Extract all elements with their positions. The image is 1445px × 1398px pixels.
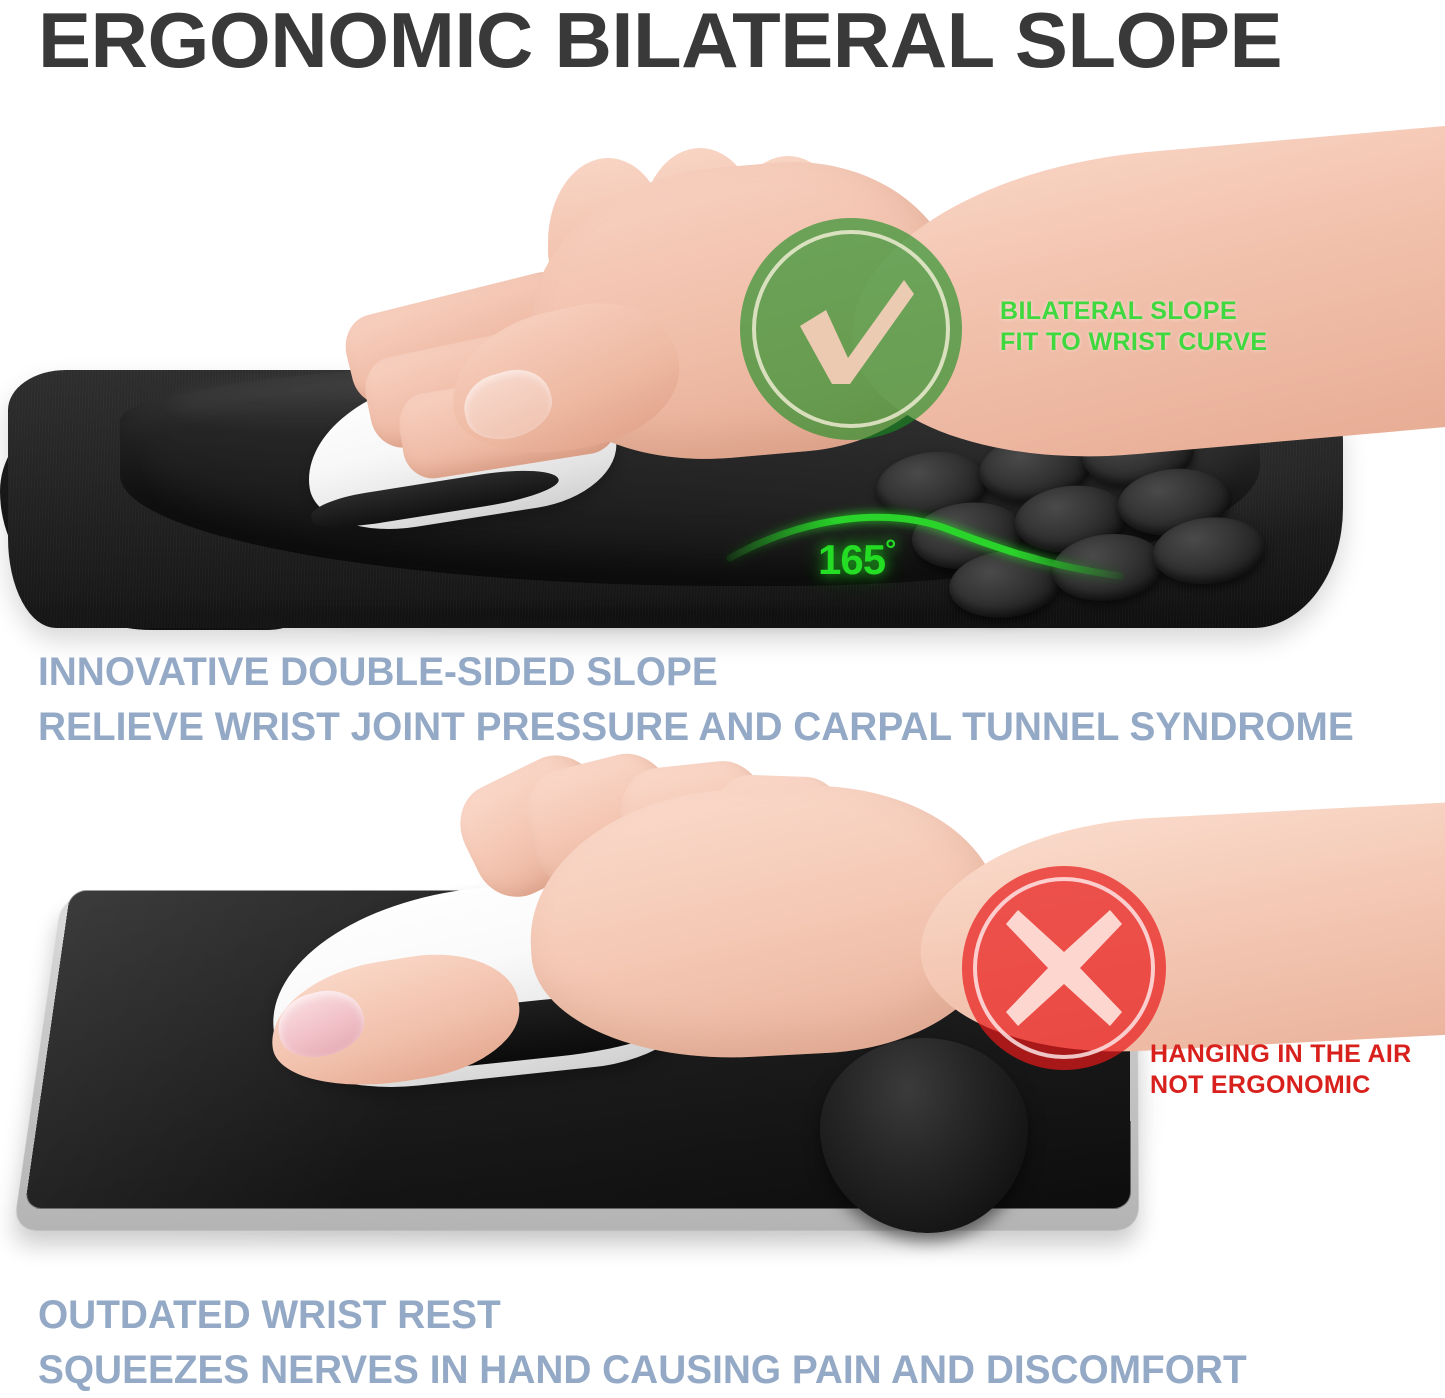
checkmark-glyph xyxy=(792,272,918,390)
not-ergonomic-annotation: HANGING IN THE AIR NOT ERGONOMIC xyxy=(1150,1039,1411,1101)
degree-symbol: ° xyxy=(885,534,895,565)
cross-glyph xyxy=(1004,908,1124,1028)
bottom-caption-line-1: OUTDATED WRIST REST xyxy=(38,1288,1386,1343)
x-icon xyxy=(962,866,1166,1070)
top-caption-block: INNOVATIVE DOUBLE-SIDED SLOPE RELIEVE WR… xyxy=(38,645,1428,755)
anno-green-line1: BILATERAL SLOPE xyxy=(1000,296,1267,327)
top-caption-line-1: INNOVATIVE DOUBLE-SIDED SLOPE xyxy=(38,645,1386,700)
top-caption-line-2: RELIEVE WRIST JOINT PRESSURE AND CARPAL … xyxy=(38,700,1386,755)
bottom-caption-line-2: SQUEEZES NERVES IN HAND CAUSING PAIN AND… xyxy=(38,1343,1386,1398)
check-icon xyxy=(740,218,962,440)
angle-value: 165 xyxy=(818,536,885,583)
bilateral-slope-annotation: BILATERAL SLOPE FIT TO WRIST CURVE xyxy=(1000,296,1267,358)
anno-red-line2: NOT ERGONOMIC xyxy=(1150,1070,1411,1101)
bottom-caption-block: OUTDATED WRIST REST SQUEEZES NERVES IN H… xyxy=(38,1288,1428,1398)
angle-label: 165° xyxy=(818,529,895,581)
top-product-photo: 165° BILATERAL SLOPE FIT TO WRIST CURVE xyxy=(0,70,1445,660)
anno-green-line2: FIT TO WRIST CURVE xyxy=(1000,327,1267,358)
anno-red-line1: HANGING IN THE AIR xyxy=(1150,1039,1411,1070)
bottom-product-photo: HANGING IN THE AIR NOT ERGONOMIC xyxy=(0,770,1445,1290)
